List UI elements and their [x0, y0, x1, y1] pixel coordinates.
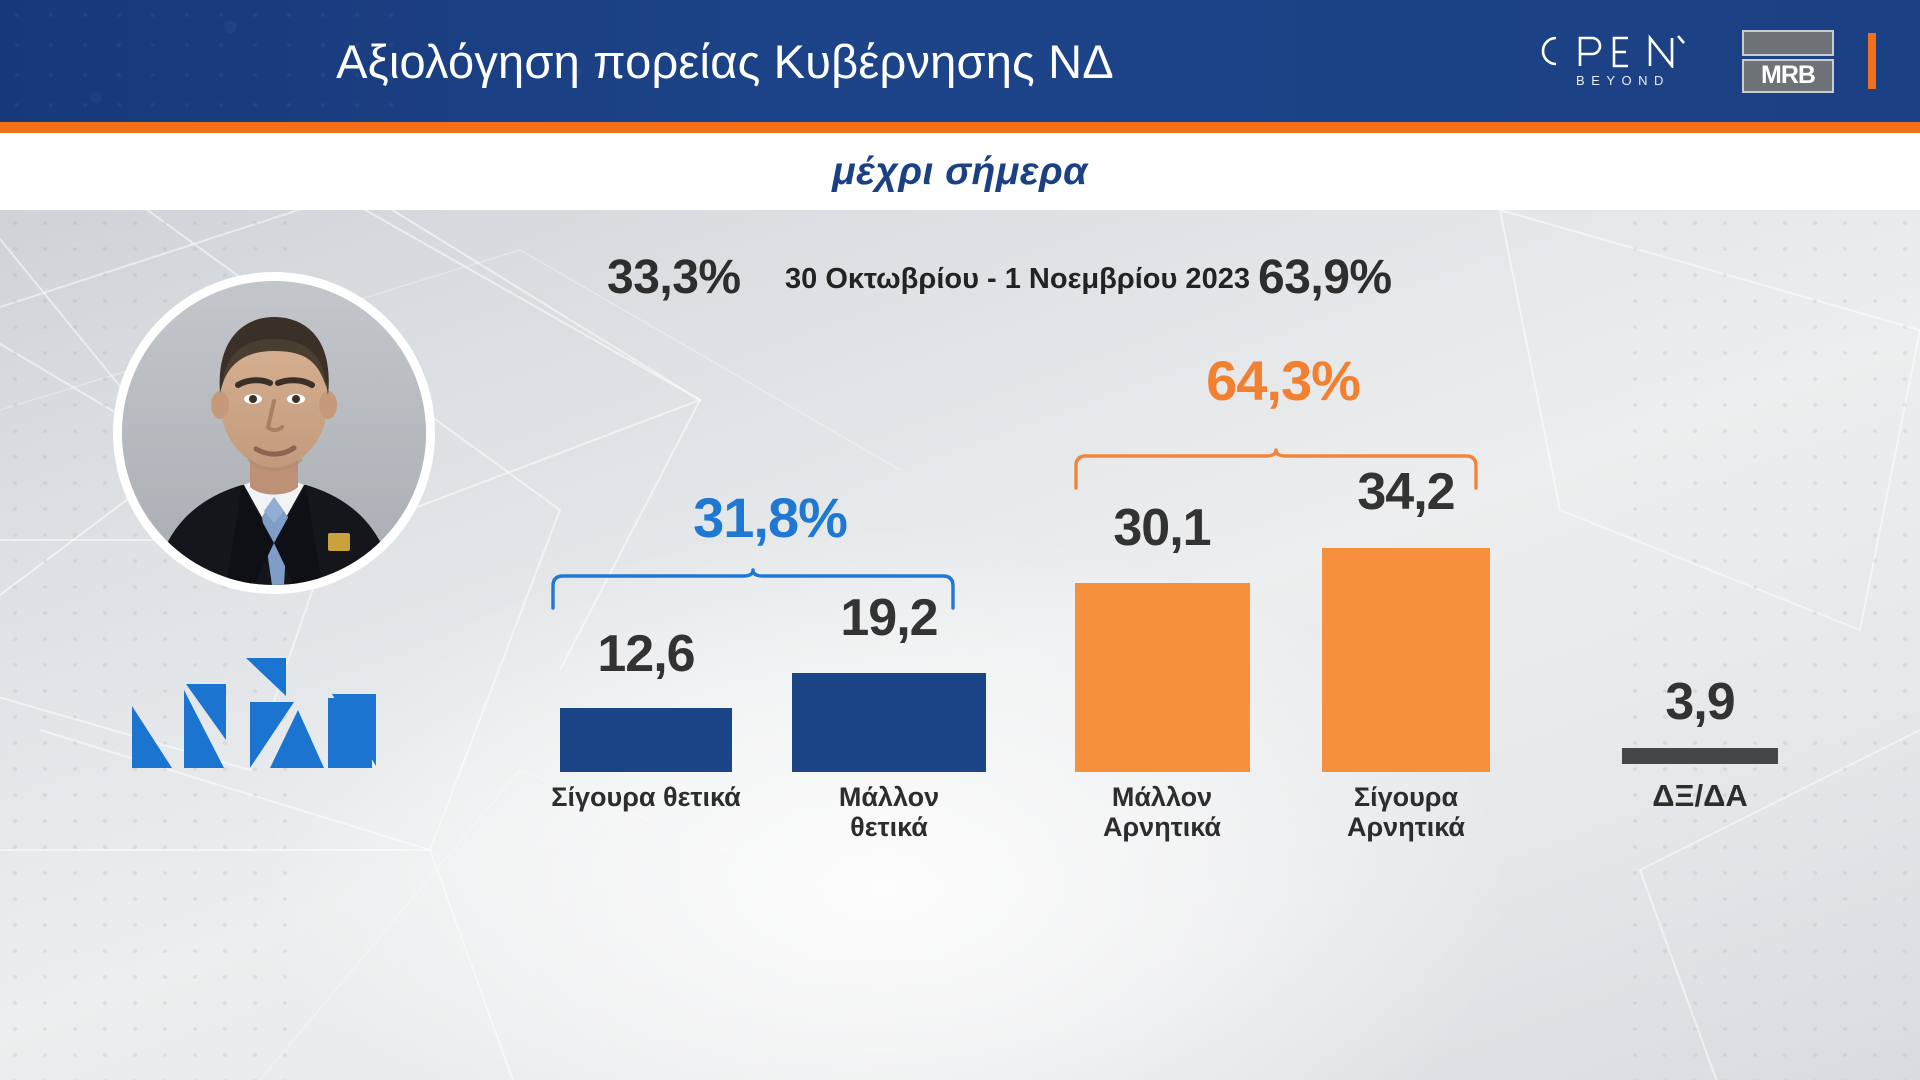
background-dot-texture-right — [1620, 210, 1920, 1080]
positive-total-top: 33,3% — [607, 250, 741, 305]
bar-mallon-arnitika — [1075, 583, 1250, 772]
negative-total-top: 63,9% — [1258, 250, 1392, 305]
open-wordmark-icon — [1532, 34, 1708, 68]
party-leader-portrait — [113, 272, 435, 594]
bar-mallon-thetika — [792, 673, 986, 772]
logo-group: BEYOND MRB — [1532, 0, 1876, 122]
mrb-logo-lower-block: MRB — [1742, 59, 1834, 93]
open-beyond-logo: BEYOND — [1532, 34, 1708, 88]
bar-category-mallon-thetika: Μάλλον θετικά — [796, 782, 982, 842]
bar-value-mallon-arnitika: 30,1 — [1072, 498, 1252, 558]
mrb-logo: MRB — [1742, 30, 1834, 93]
bar-category-sigoura-arnitika: Σίγουρα Αρνητικά — [1306, 782, 1506, 842]
beyond-wordmark: BEYOND — [1570, 73, 1670, 88]
negative-group-label: 64,3% — [1075, 348, 1491, 413]
header-band: Αξιολόγηση πορείας Κυβέρνησης ΝΔ BEYOND — [0, 0, 1920, 122]
poll-graphic: Αξιολόγηση πορείας Κυβέρνησης ΝΔ BEYOND — [0, 0, 1920, 1080]
bar-value-mallon-thetika: 19,2 — [796, 588, 982, 648]
orange-accent-tick — [1868, 33, 1876, 89]
dont-know-value: 3,9 — [1600, 672, 1800, 732]
mrb-logo-upper-block — [1742, 30, 1834, 56]
dont-know-label: ΔΞ/ΔΑ — [1600, 778, 1800, 814]
page-title: Αξιολόγηση πορείας Κυβέρνησης ΝΔ — [0, 0, 1450, 122]
mrb-wordmark: MRB — [1761, 63, 1815, 88]
poll-date-range: 30 Οκτωβρίου - 1 Νοεμβρίου 2023 — [785, 263, 1250, 296]
bar-sigoura-arnitika — [1322, 548, 1490, 772]
page-subtitle: μέχρι σήμερα — [832, 150, 1088, 194]
portrait-illustration — [122, 281, 426, 585]
bar-sigoura-thetika — [560, 708, 732, 772]
summary-row: 33,3% 30 Οκτωβρίου - 1 Νοεμβρίου 2023 63… — [0, 250, 1920, 312]
nd-party-logo — [128, 648, 388, 773]
positive-group-label: 31,8% — [560, 485, 980, 550]
orange-divider-rule — [0, 122, 1920, 133]
subtitle-band: μέχρι σήμερα — [0, 133, 1920, 210]
bar-value-sigoura-thetika: 12,6 — [556, 624, 736, 684]
portrait-circle-frame — [113, 272, 435, 594]
bar-category-sigoura-thetika: Σίγουρα θετικά — [500, 782, 792, 812]
bar-category-mallon-arnitika: Μάλλον Αρνητικά — [1062, 782, 1262, 842]
bar-value-sigoura-arnitika: 34,2 — [1316, 462, 1496, 522]
dont-know-bar — [1622, 748, 1778, 764]
